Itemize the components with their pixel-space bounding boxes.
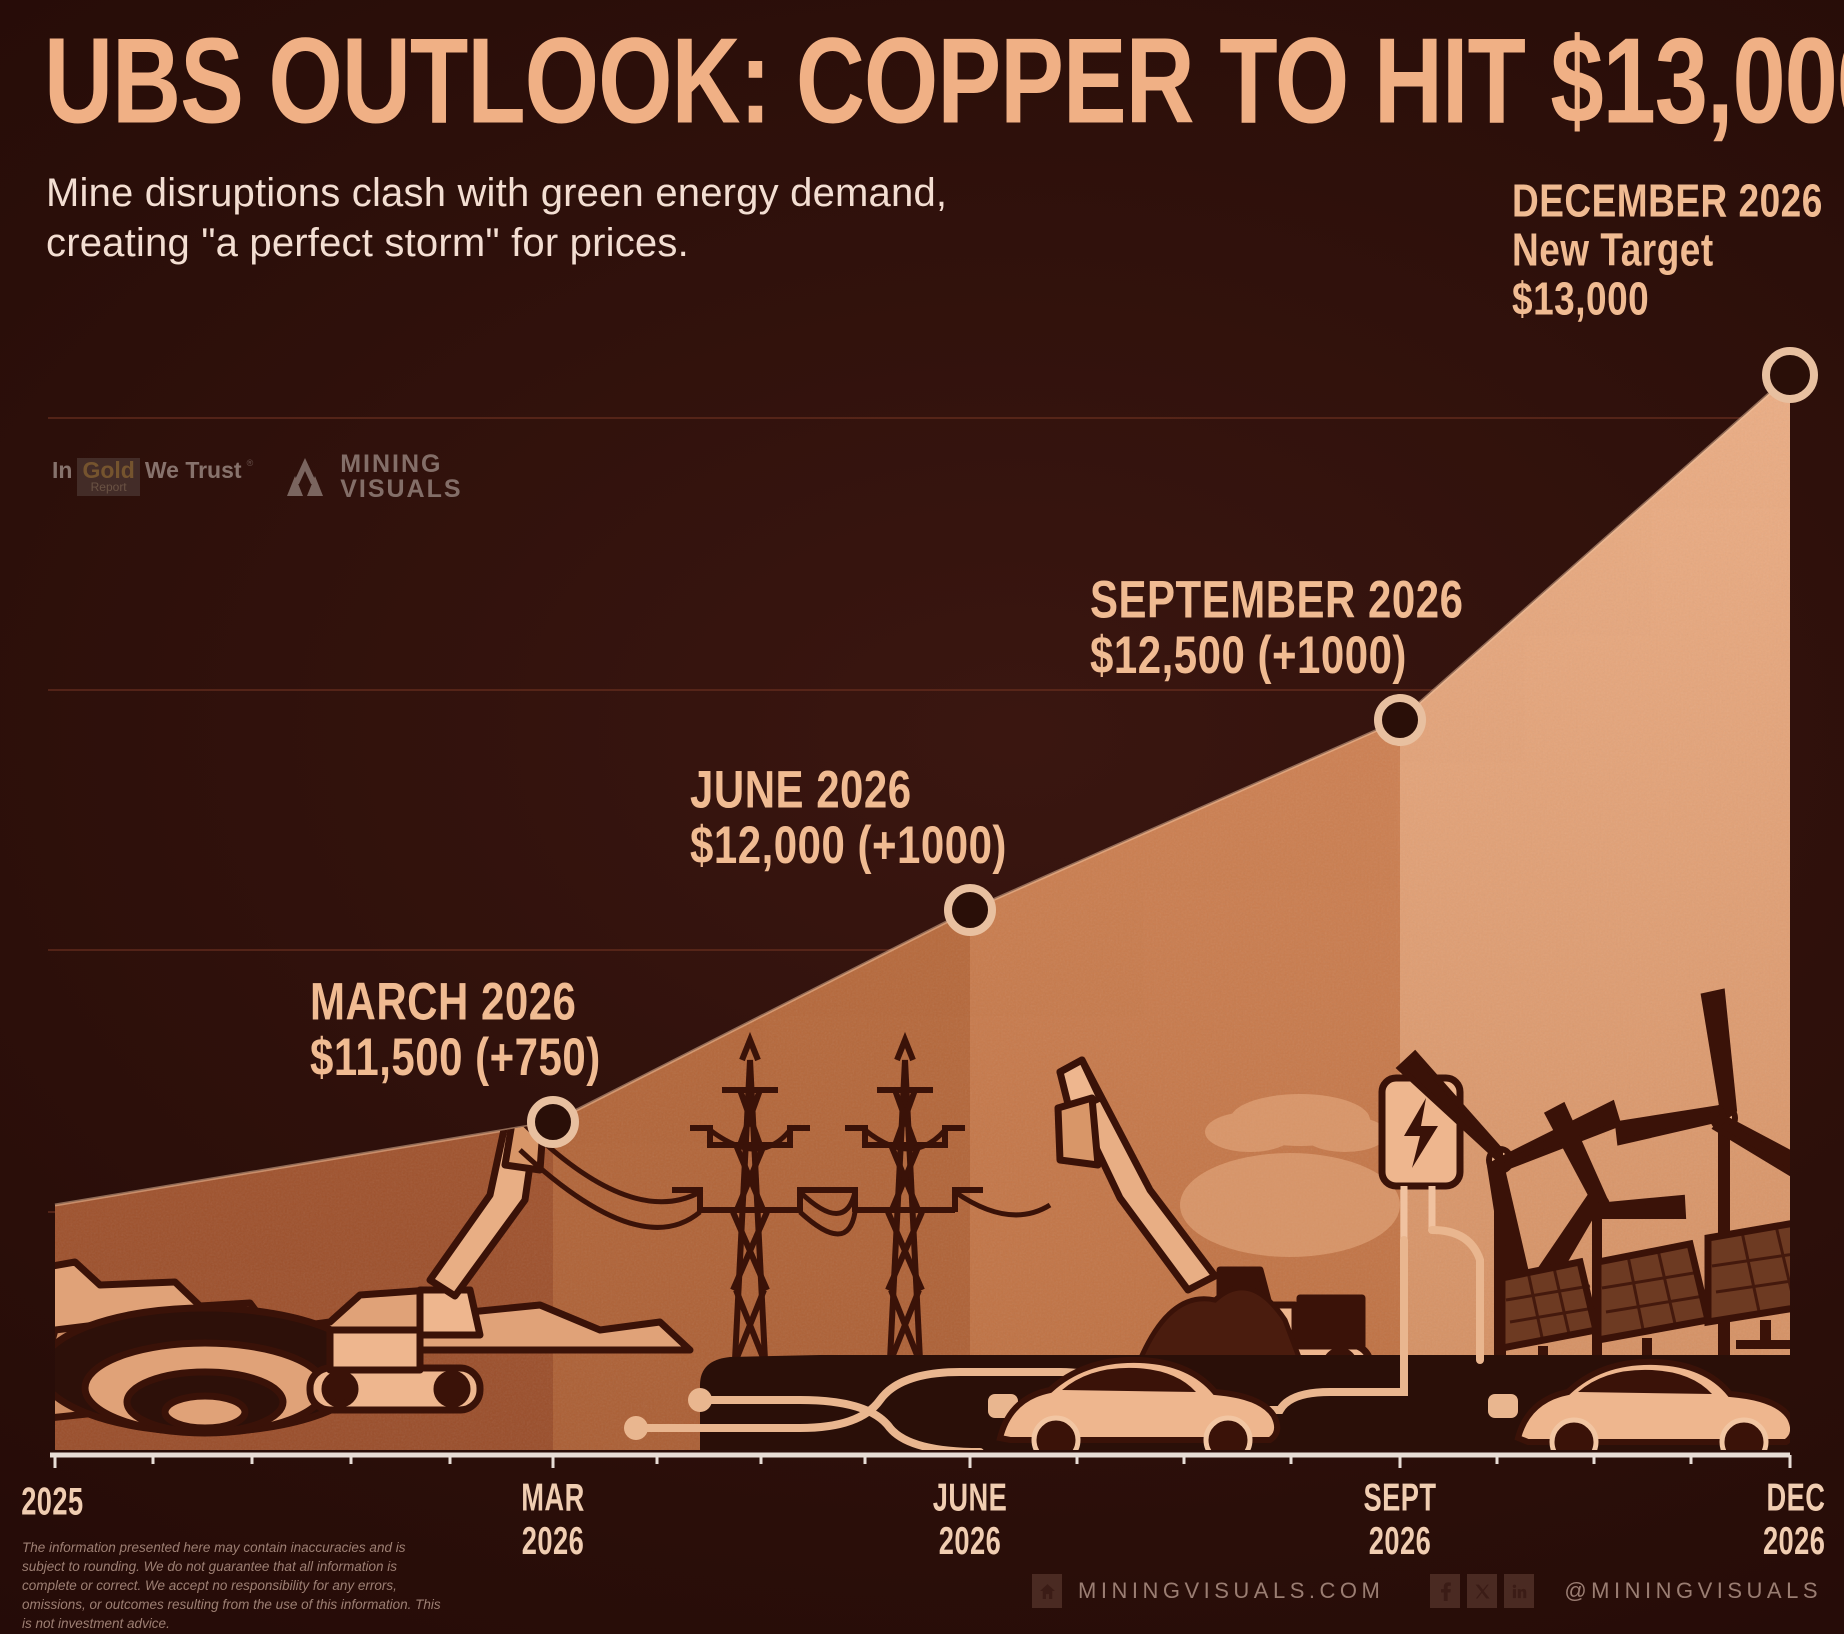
callout-december: DECEMBER 2026 New Target $13,000 [1512, 176, 1823, 323]
home-icon[interactable] [1032, 1574, 1062, 1608]
x-axis-label-dec: DEC 2026 [1729, 1475, 1826, 1563]
igwt-gold: Gold [82, 459, 134, 481]
linkedin-icon[interactable] [1504, 1574, 1534, 1608]
x-axis-label-sept-bottom: 2026 [1347, 1519, 1453, 1563]
marker-september [1378, 698, 1422, 742]
igwt-gold-box: Gold Report [77, 458, 139, 496]
x-axis-label-mar-bottom: 2026 [500, 1519, 606, 1563]
x-axis-label-sept: SEPT 2026 [1347, 1475, 1453, 1563]
social-handle-label[interactable]: @MININGVISUALS [1564, 1578, 1822, 1604]
logo-row: In Gold Report We Trust ® MINING VISUALS [52, 452, 463, 502]
facebook-icon[interactable] [1430, 1574, 1460, 1608]
callout-june: JUNE 2026 $12,000 (+1000) [690, 762, 1007, 873]
callout-december-date: DECEMBER 2026 [1512, 176, 1823, 225]
x-axis-label-mar-top: MAR [500, 1475, 606, 1519]
callout-june-price: $12,000 (+1000) [690, 817, 1007, 872]
marker-march [531, 1100, 575, 1144]
x-axis-label-mar: MAR 2026 [500, 1475, 606, 1563]
igwt-report: Report [82, 481, 134, 493]
igwt-we-trust: We Trust [145, 458, 242, 482]
x-axis-label-2025-top: 2025 [21, 1480, 127, 1524]
website-label[interactable]: MININGVISUALS.COM [1078, 1578, 1384, 1604]
callout-december-label: New Target [1512, 225, 1823, 274]
igwt-registered-mark: ® [247, 458, 254, 468]
callout-september-price: $12,500 (+1000) [1090, 627, 1463, 682]
x-axis-label-sept-top: SEPT [1347, 1475, 1453, 1519]
cable-plug-right [1490, 1396, 1516, 1416]
social-icons [1430, 1574, 1534, 1608]
x-axis-label-june-bottom: 2026 [917, 1519, 1023, 1563]
mining-visuals-logo: MINING VISUALS [287, 452, 462, 502]
callout-december-price: $13,000 [1512, 274, 1823, 323]
ground-left-edge [700, 1355, 820, 1455]
callout-september: SEPTEMBER 2026 $12,500 (+1000) [1090, 572, 1463, 683]
in-gold-we-trust-logo: In Gold Report We Trust ® [52, 458, 253, 496]
footer-bar: MININGVISUALS.COM @MININGVISUALS [1032, 1574, 1822, 1608]
callout-june-date: JUNE 2026 [690, 762, 1007, 817]
x-axis-label-dec-top: DEC [1729, 1475, 1826, 1519]
x-axis-label-dec-bottom: 2026 [1729, 1519, 1826, 1563]
marker-june [948, 888, 992, 932]
mv-line-2: VISUALS [340, 477, 462, 502]
igwt-in: In [52, 458, 72, 482]
mv-line-1: MINING [340, 452, 462, 477]
x-twitter-icon[interactable] [1467, 1574, 1497, 1608]
callout-september-date: SEPTEMBER 2026 [1090, 572, 1463, 627]
callout-march-price: $11,500 (+750) [310, 1029, 601, 1084]
marker-december [1766, 351, 1814, 399]
x-axis-label-june: JUNE 2026 [917, 1475, 1023, 1563]
x-axis-label-june-top: JUNE [917, 1475, 1023, 1519]
callout-march: MARCH 2026 $11,500 (+750) [310, 974, 601, 1085]
mining-visuals-mountain-icon [287, 458, 329, 496]
disclaimer-text: The information presented here may conta… [22, 1538, 442, 1633]
x-axis-label-2025: 2025 [21, 1480, 127, 1524]
infographic-root: UBS OUTLOOK: COPPER TO HIT $13,000 BY 20… [0, 0, 1844, 1634]
mining-visuals-text: MINING VISUALS [340, 452, 462, 502]
callout-march-date: MARCH 2026 [310, 974, 601, 1029]
